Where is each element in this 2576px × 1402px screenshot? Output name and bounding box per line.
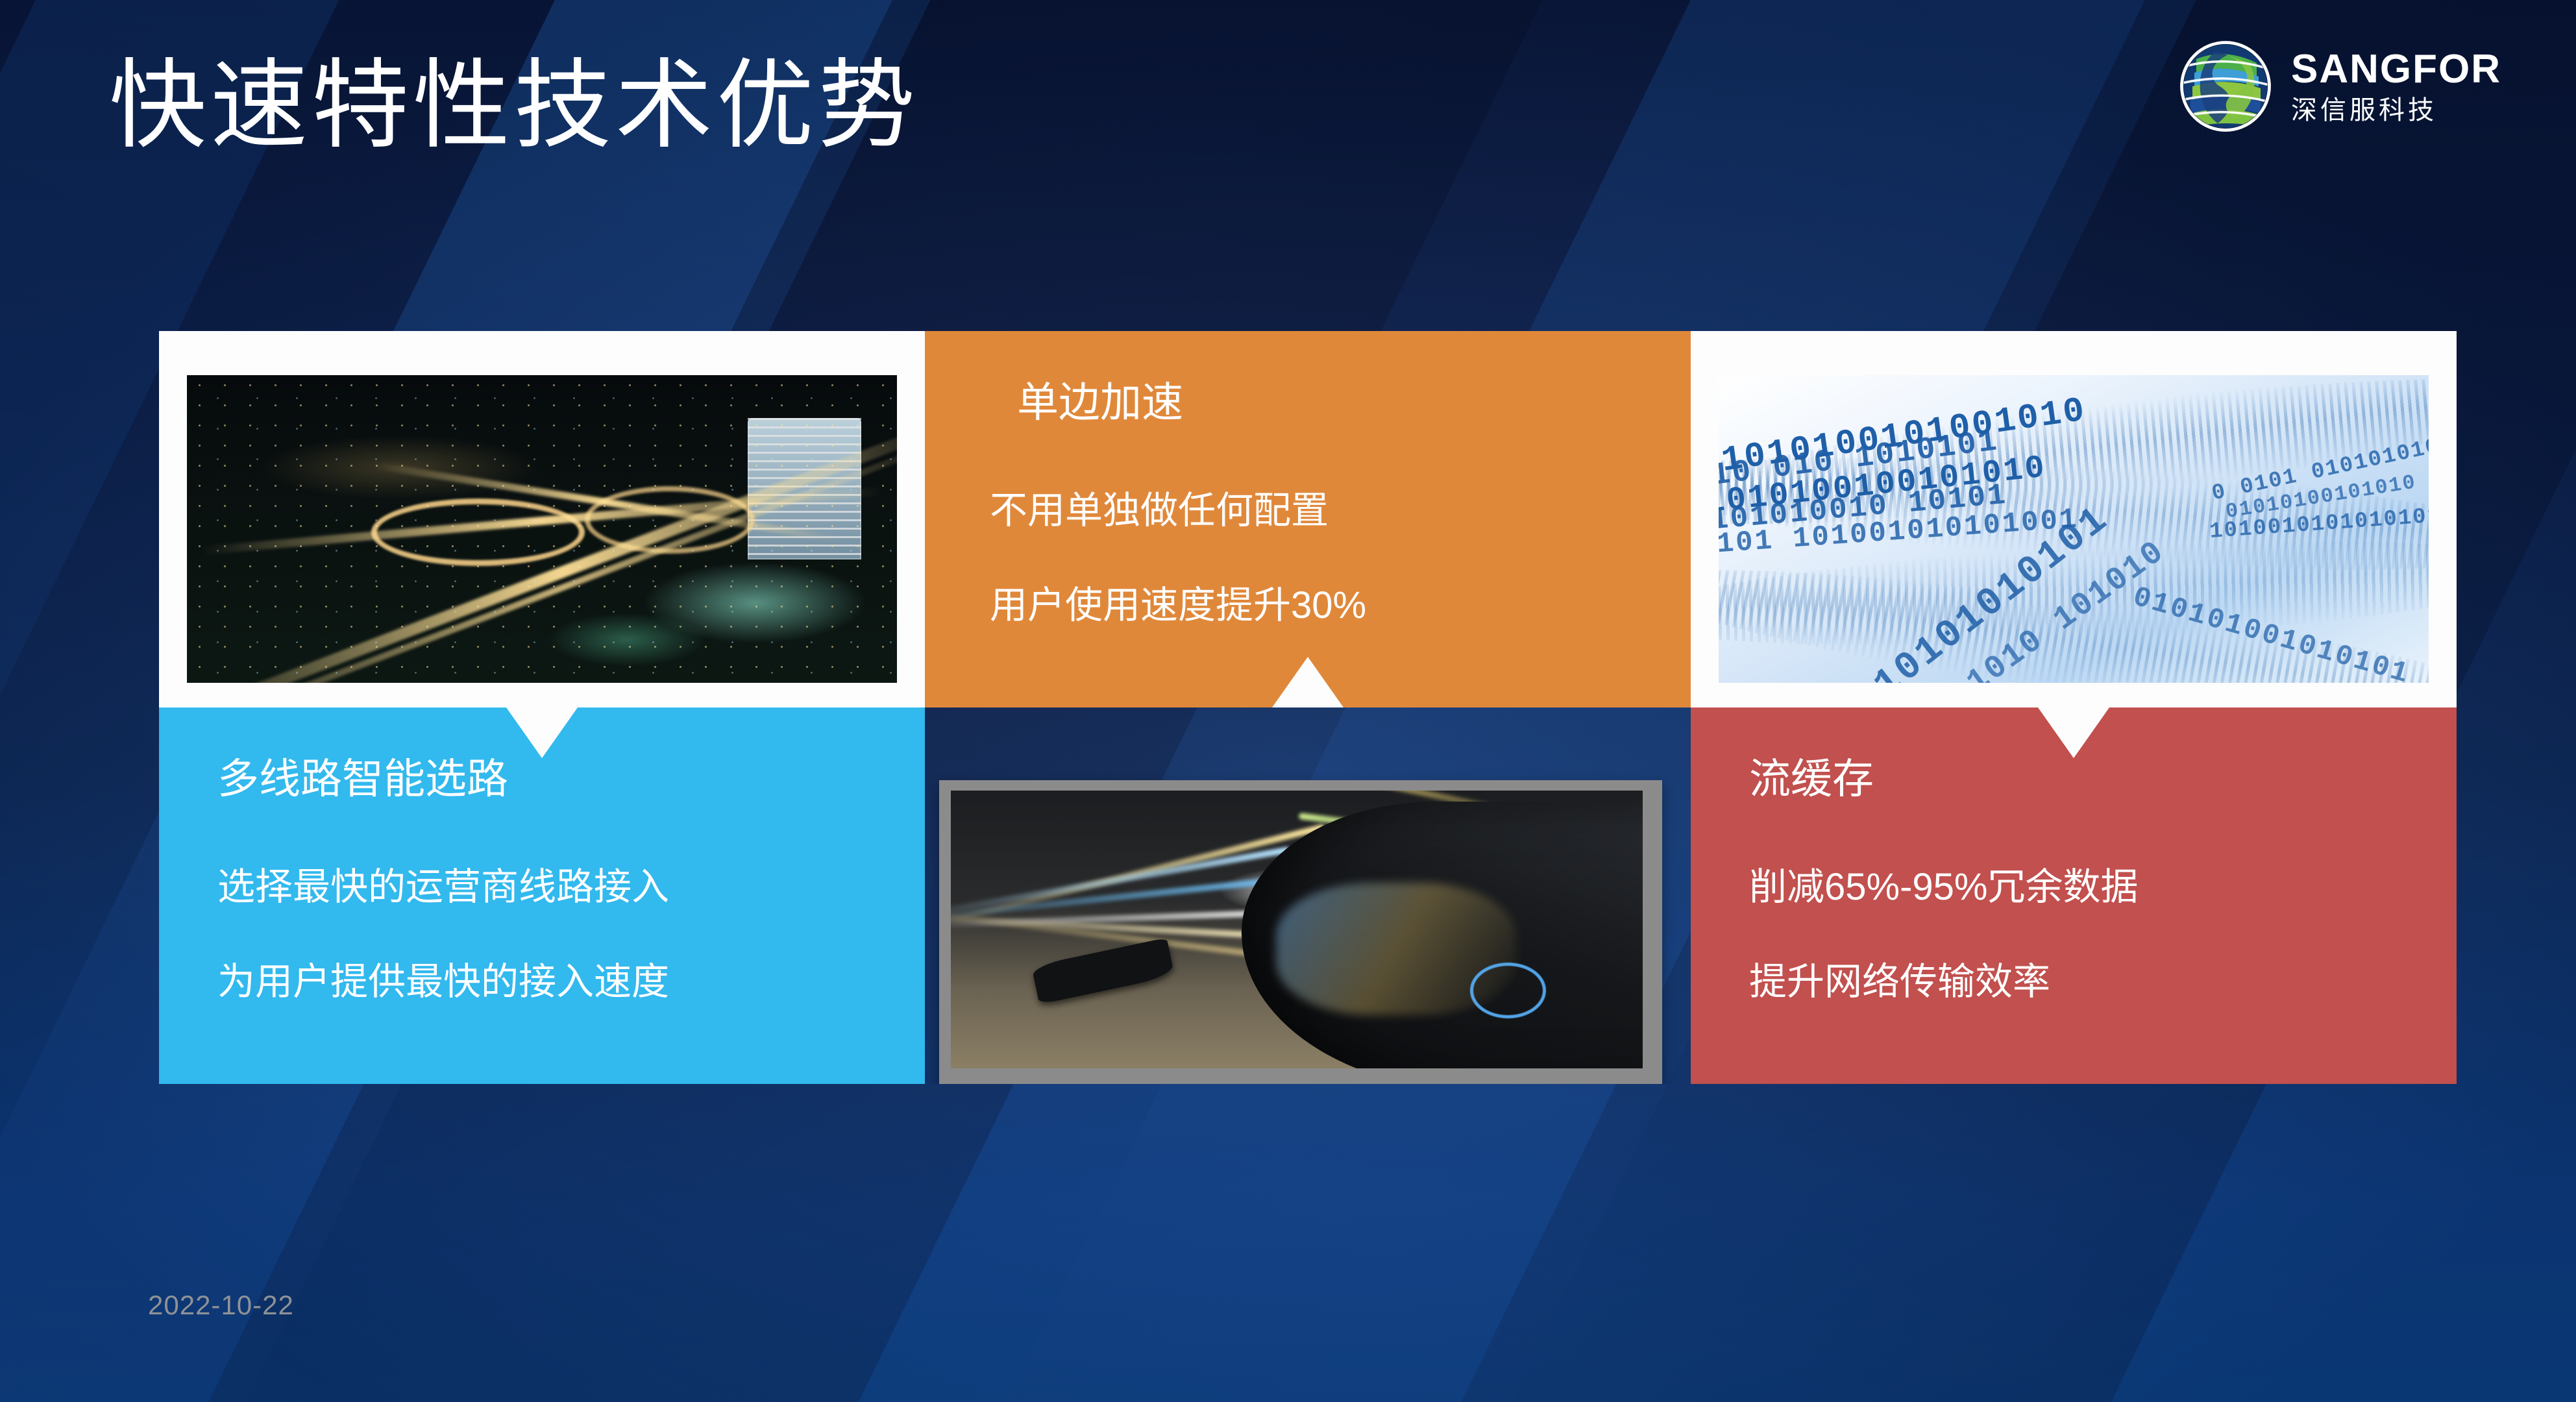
logo-name-cn: 深信服科技 — [2291, 97, 2501, 123]
orange-panel-notch-icon — [1272, 657, 1343, 707]
brand-logo: SANGFOR 深信服科技 — [2177, 38, 2501, 135]
grid-cell-orange-panel: 单边加速 不用单独做任何配置 用户使用速度提升30% — [925, 331, 1691, 707]
car-photo-frame — [939, 780, 1662, 1084]
panel-unilateral-acceleration[interactable]: 单边加速 不用单独做任何配置 用户使用速度提升30% — [925, 331, 1691, 707]
sangfor-globe-icon — [2177, 38, 2274, 135]
panel-red-line-1: 削减65%-95%冗余数据 — [1749, 856, 2398, 911]
night-city-photo — [187, 375, 897, 683]
slide-title: 快速特性技术优势 — [109, 51, 919, 160]
panel-blue-line-1: 选择最快的运营商线路接入 — [217, 856, 866, 911]
grid-cell-blue-panel: 多线路智能选路 选择最快的运营商线路接入 为用户提供最快的接入速度 — [159, 707, 925, 1084]
panel-orange-line-1: 不用单独做任何配置 — [983, 480, 1632, 534]
slide-date: 2022-10-22 — [148, 1290, 294, 1321]
binary-data-photo: 01010100101001010 010 010 1010101 101010… — [1719, 375, 2429, 683]
logo-text: SANGFOR 深信服科技 — [2291, 49, 2501, 123]
panel-orange-line-2: 用户使用速度提升30% — [983, 574, 1632, 629]
grid-cell-binary-photo: 01010100101001010 010 010 1010101 101010… — [1691, 331, 2457, 707]
panel-blue-line-2: 为用户提供最快的接入速度 — [217, 951, 866, 1005]
logo-name-en: SANGFOR — [2291, 49, 2501, 90]
panel-orange-heading: 单边加速 — [983, 369, 1632, 429]
presentation-slide: 快速特性技术优势 SANGFOR 深信服科技 — [0, 0, 2576, 1402]
binary-photo-card: 01010100101001010 010 010 1010101 101010… — [1691, 331, 2457, 707]
car-speed-photo — [951, 791, 1643, 1068]
panel-multiline-smart-routing[interactable]: 多线路智能选路 选择最快的运营商线路接入 为用户提供最快的接入速度 — [159, 707, 925, 1084]
city-photo-card — [159, 331, 925, 707]
panel-stream-cache[interactable]: 流缓存 削减65%-95%冗余数据 提升网络传输效率 — [1691, 707, 2457, 1084]
panel-red-line-2: 提升网络传输效率 — [1749, 951, 2398, 1005]
grid-cell-city-photo — [159, 331, 925, 707]
feature-grid: 单边加速 不用单独做任何配置 用户使用速度提升30% 0101010010100… — [159, 331, 2457, 1084]
grid-cell-car-photo — [925, 707, 1691, 1084]
grid-cell-red-panel: 流缓存 削减65%-95%冗余数据 提升网络传输效率 — [1691, 707, 2457, 1084]
